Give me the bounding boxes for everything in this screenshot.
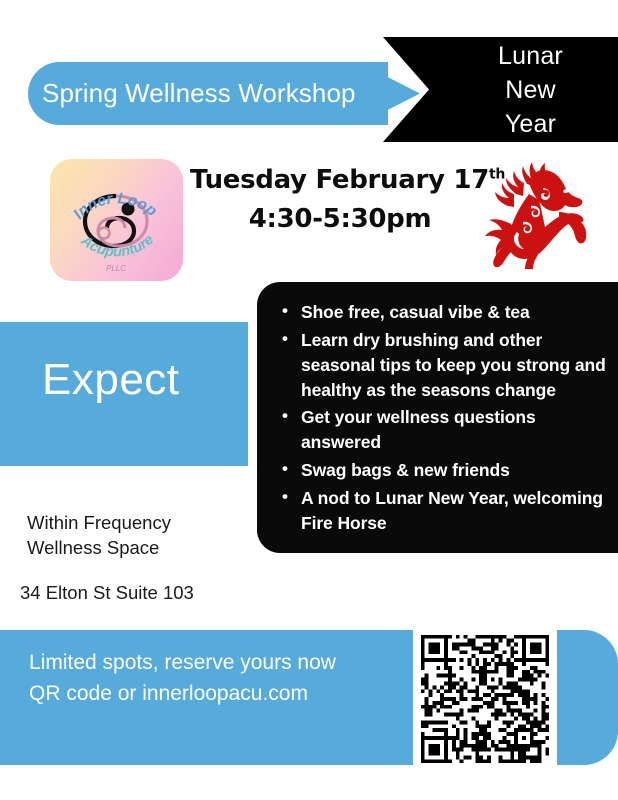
cta-line-1: Limited spots, reserve yours now — [29, 648, 389, 679]
expect-bullets-list: Shoe free, casual vibe & tea Learn dry b… — [257, 282, 618, 536]
spring-workshop-arrow: Spring Wellness Workshop — [28, 62, 420, 125]
cta-text: Limited spots, reserve yours now QR code… — [29, 648, 389, 709]
arrow-head-shape — [358, 62, 420, 125]
event-datetime: Tuesday February 17th 4:30-5:30pm — [190, 165, 490, 234]
lunar-line-3: Year — [505, 107, 556, 141]
event-date: Tuesday February 17th — [190, 165, 490, 195]
lunar-line-1: Lunar — [498, 39, 563, 73]
inner-loop-acupuncture-logo: Inner Loop Acupunture PLLC — [50, 159, 183, 281]
qr-code[interactable] — [413, 627, 557, 771]
spring-workshop-label: Spring Wellness Workshop — [42, 62, 356, 125]
svg-text:PLLC: PLLC — [106, 264, 126, 273]
venue-name: Within Frequency Wellness Space — [27, 511, 242, 560]
list-item: Get your wellness questions answered — [301, 405, 608, 455]
event-date-text: Tuesday February 17 — [190, 165, 489, 195]
lunar-new-year-text: Lunar New Year — [443, 37, 618, 142]
list-item: Shoe free, casual vibe & tea — [301, 300, 608, 325]
venue-address: 34 Elton St Suite 103 — [20, 582, 250, 604]
svg-text:Acupunture: Acupunture — [77, 232, 157, 261]
lunar-line-2: New — [505, 73, 556, 107]
event-time: 4:30-5:30pm — [190, 204, 490, 234]
cta-line-2: QR code or innerloopacu.com — [29, 679, 389, 710]
list-item: A nod to Lunar New Year, welcoming Fire … — [301, 486, 608, 536]
expect-heading: Expect — [42, 355, 180, 405]
expect-bullets-panel: Shoe free, casual vibe & tea Learn dry b… — [254, 279, 618, 556]
flyer-canvas: Lunar New Year Spring Wellness Workshop — [0, 0, 618, 800]
list-item: Learn dry brushing and other seasonal ti… — [301, 328, 608, 403]
fire-horse-icon — [483, 160, 599, 270]
list-item: Swag bags & new friends — [301, 458, 608, 483]
